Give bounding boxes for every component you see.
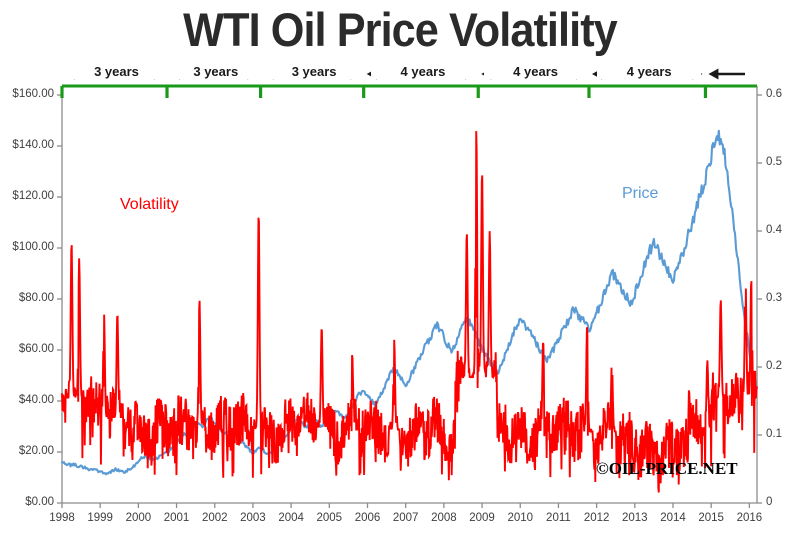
y-tick-label-left: $0.00 [0, 496, 54, 508]
y-tick-label-right: 0.3 [766, 292, 782, 304]
y-tick-label-right: 0.1 [766, 428, 782, 440]
period-label: 4 years [484, 64, 588, 79]
y-tick-label-right: 0 [766, 496, 772, 508]
period-label: 4 years [371, 64, 475, 79]
volatility-series-label: Volatility [120, 196, 179, 214]
y-tick-label-right: 0.5 [766, 156, 782, 168]
y-tick-label-left: $80.00 [0, 292, 54, 304]
period-label: 4 years [597, 64, 701, 79]
y-tick-label-right: 0.2 [766, 360, 782, 372]
period-annotation-7 [708, 69, 745, 80]
y-tick-label-right: 0.6 [766, 88, 782, 100]
y-tick-label-left: $140.00 [0, 139, 54, 151]
y-tick-label-left: $60.00 [0, 343, 54, 355]
chart-svg [0, 0, 800, 533]
chart-container: WTI Oil Price Volatility $0.00$20.00$40.… [0, 0, 800, 533]
y-tick-label-left: $160.00 [0, 88, 54, 100]
y-tick-label-left: $40.00 [0, 394, 54, 406]
y-tick-label-left: $20.00 [0, 445, 54, 457]
period-label: 3 years [262, 64, 366, 79]
period-label: 3 years [65, 64, 169, 79]
x-tick-label: 2016 [727, 512, 771, 524]
y-tick-label-left: $120.00 [0, 190, 54, 202]
price-series-label: Price [622, 185, 658, 203]
period-label: 3 years [164, 64, 268, 79]
y-tick-label-left: $100.00 [0, 241, 54, 253]
y-tick-label-right: 0.4 [766, 224, 782, 236]
watermark: ©OIL-PRICE.NET [596, 459, 738, 479]
arrow-left-head [708, 69, 718, 80]
